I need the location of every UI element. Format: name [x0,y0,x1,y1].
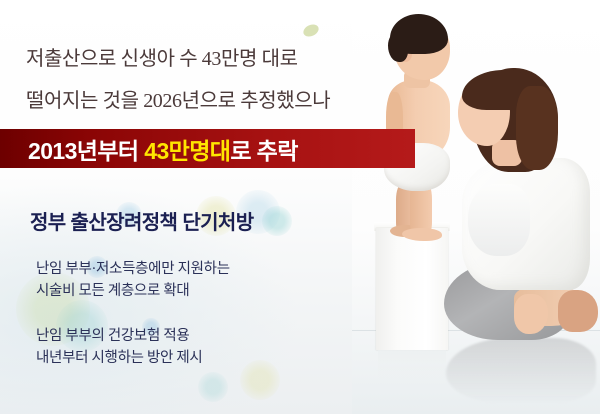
woman-reflection [446,338,596,404]
policy-item-2: 난임 부부의 건강보험 적용 내년부터 시행하는 방안 제시 [36,325,202,369]
red-banner: 2013년부터 43만명대로 추락 [0,129,415,168]
infographic-canvas: 저출산으로 신생아 수 43만명 대로 떨어지는 것을 2026년으로 추정했으… [0,0,600,414]
policy-item-2-line-1: 난임 부부의 건강보험 적용 [36,325,202,347]
woman-sleeve [468,184,530,256]
toddler-near-foot [402,228,442,241]
woman-hair-side [516,86,558,170]
policy-item-1-line-1: 난임 부부·저소득층에만 지원하는 [36,258,230,280]
banner-prefix: 2013년부터 [28,138,144,164]
headline-line-2: 떨어지는 것을 2026년으로 추정했으나 [26,84,426,113]
headline-line-1: 저출산으로 신생아 수 43만명 대로 [26,42,426,71]
woman-figure [438,66,600,366]
banner-suffix: 로 추락 [230,138,297,164]
banner-highlight: 43만명대 [144,138,230,164]
policy-item-1: 난임 부부·저소득층에만 지원하는 시술비 모든 계층으로 확대 [36,258,230,302]
red-banner-text: 2013년부터 43만명대로 추락 [0,132,298,166]
pedestal-reflection [378,350,446,384]
policy-item-2-line-2: 내년부터 시행하는 방안 제시 [36,347,202,369]
policy-item-1-line-2: 시술비 모든 계층으로 확대 [36,280,230,302]
section-subheading: 정부 출산장려정책 단기처방 [30,206,254,235]
woman-foot [558,290,598,332]
woman-hand [514,294,548,334]
